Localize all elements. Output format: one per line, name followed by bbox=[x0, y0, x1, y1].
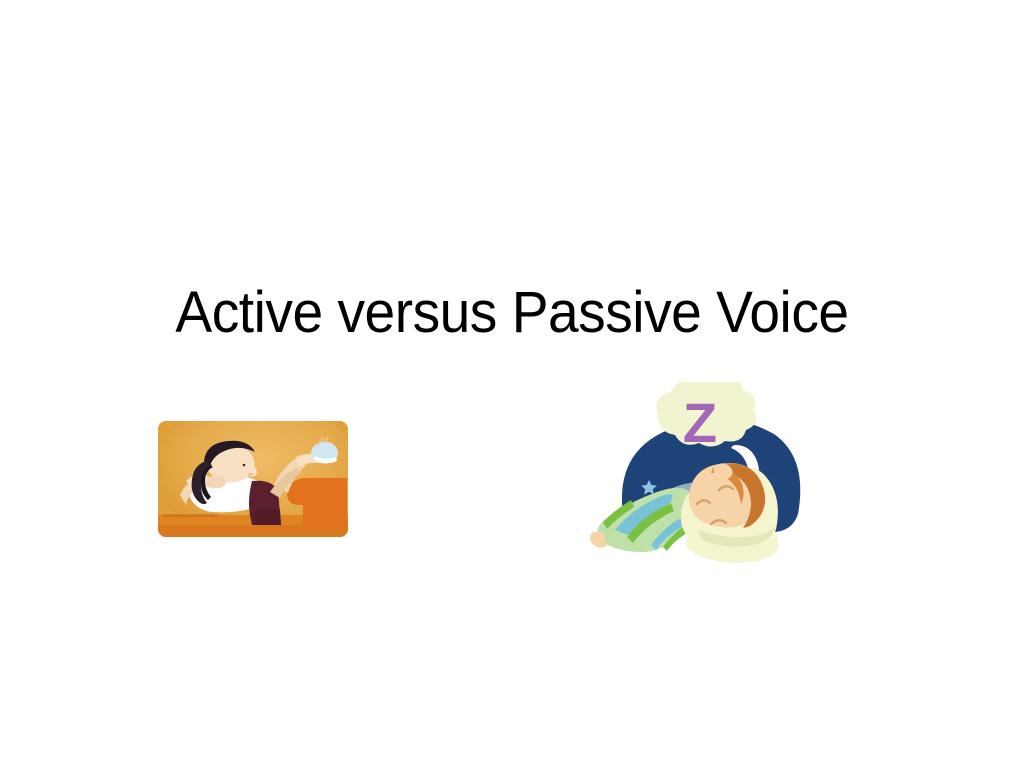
sleeping-head bbox=[689, 463, 765, 528]
letter-z: Z bbox=[683, 391, 717, 454]
sleeping-person-illustration: Z bbox=[585, 382, 815, 564]
exercise-scene bbox=[158, 421, 348, 537]
presentation-slide: Active versus Passive Voice bbox=[0, 0, 1024, 768]
exercise-image-svg bbox=[158, 421, 348, 537]
page-title: Active versus Passive Voice bbox=[26, 283, 999, 344]
sleeping-image-svg: Z bbox=[585, 382, 815, 564]
floor-shadow bbox=[162, 514, 220, 517]
shorts-shade bbox=[255, 509, 281, 525]
exercise-sit-up-illustration bbox=[158, 421, 348, 537]
